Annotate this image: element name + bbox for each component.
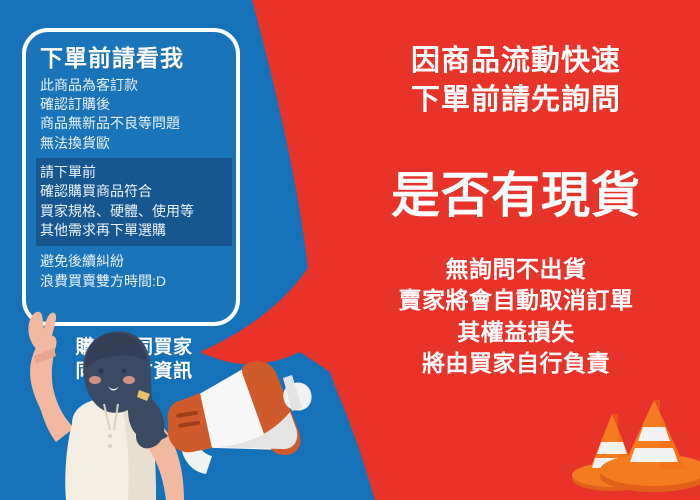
- traffic-cones-illustration: [0, 0, 700, 500]
- promo-poster: 下單前請看我 此商品為客訂款 確認訂購後 商品無新品不良等問題 無法換貨歐 請下…: [0, 0, 700, 500]
